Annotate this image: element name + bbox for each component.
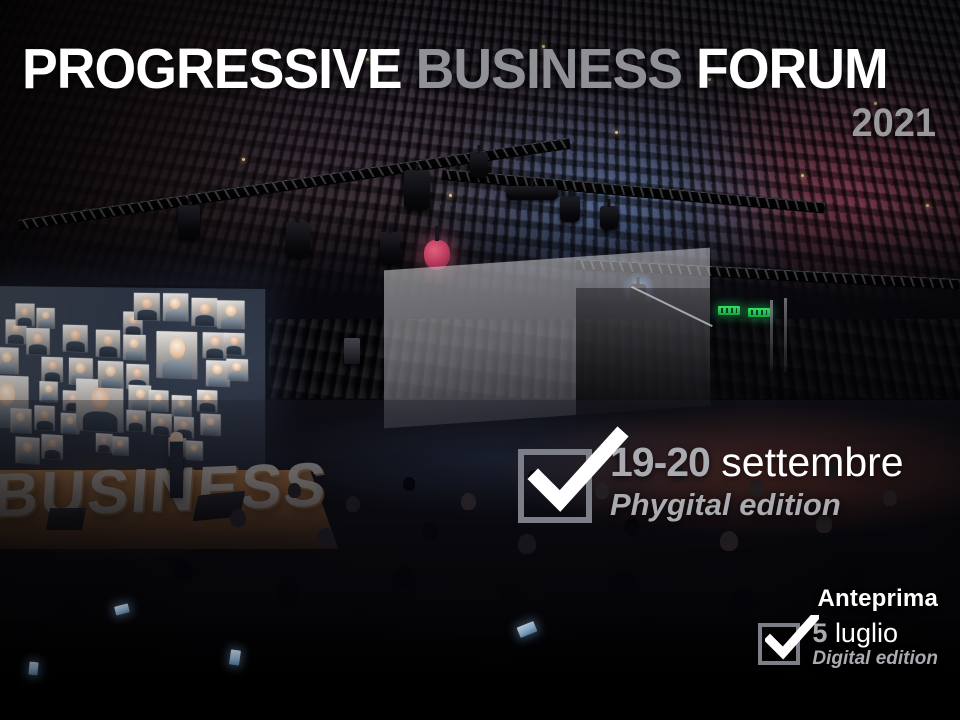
- preview-date-text: 5 luglio Digital edition: [812, 619, 938, 670]
- preview-date-line: 5 luglio: [812, 619, 938, 647]
- event-poster: BUSINESS: [0, 0, 960, 720]
- stage-light-fixture: [380, 232, 400, 264]
- preview-date-row: 5 luglio Digital edition: [758, 619, 938, 670]
- main-date-edition: Phygital edition: [610, 487, 904, 523]
- title-word-progressive: PROGRESSIVE: [22, 37, 402, 101]
- main-date-text: 19-20 settembre Phygital edition: [610, 441, 904, 523]
- audience-phone-screen: [28, 662, 38, 676]
- preview-label: Anteprima: [758, 585, 938, 613]
- preview-date-edition: Digital edition: [812, 648, 938, 670]
- exit-sign-icon: [748, 308, 770, 317]
- main-date-block: 19-20 settembre Phygital edition: [518, 441, 904, 523]
- main-date-line: 19-20 settembre: [610, 441, 904, 484]
- checkbox-checked-icon: [518, 449, 592, 523]
- ceiling-pillar: [770, 300, 773, 370]
- checkmark-icon: [765, 615, 819, 661]
- title-word-forum: FORUM: [696, 37, 888, 101]
- stage-light-fixture: [470, 152, 488, 178]
- poster-title: PROGRESSIVE BUSINESS FORUM: [22, 41, 942, 98]
- stage-light-fixture: [600, 206, 618, 230]
- ceiling-pillar: [784, 298, 787, 372]
- checkbox-checked-icon: [758, 623, 800, 665]
- stage-light-fixture: [560, 196, 580, 222]
- stage-light-fixture: [404, 170, 430, 210]
- preview-block: Anteprima 5 luglio Digital edition: [758, 585, 938, 670]
- preview-date-month: luglio: [835, 618, 898, 648]
- title-line: PROGRESSIVE BUSINESS FORUM: [22, 41, 887, 98]
- stage-light-fixture: [178, 205, 200, 239]
- stage-light-fixture: [506, 186, 558, 200]
- main-date-days: 19-20: [610, 439, 710, 485]
- pa-speaker: [344, 338, 360, 364]
- exit-sign-icon: [718, 306, 740, 315]
- checkmark-icon: [530, 435, 624, 515]
- title-year: 2021: [851, 103, 936, 143]
- title-word-business: BUSINESS: [416, 37, 682, 101]
- main-date-month: settembre: [721, 439, 903, 485]
- stage-light-fixture: [286, 222, 310, 258]
